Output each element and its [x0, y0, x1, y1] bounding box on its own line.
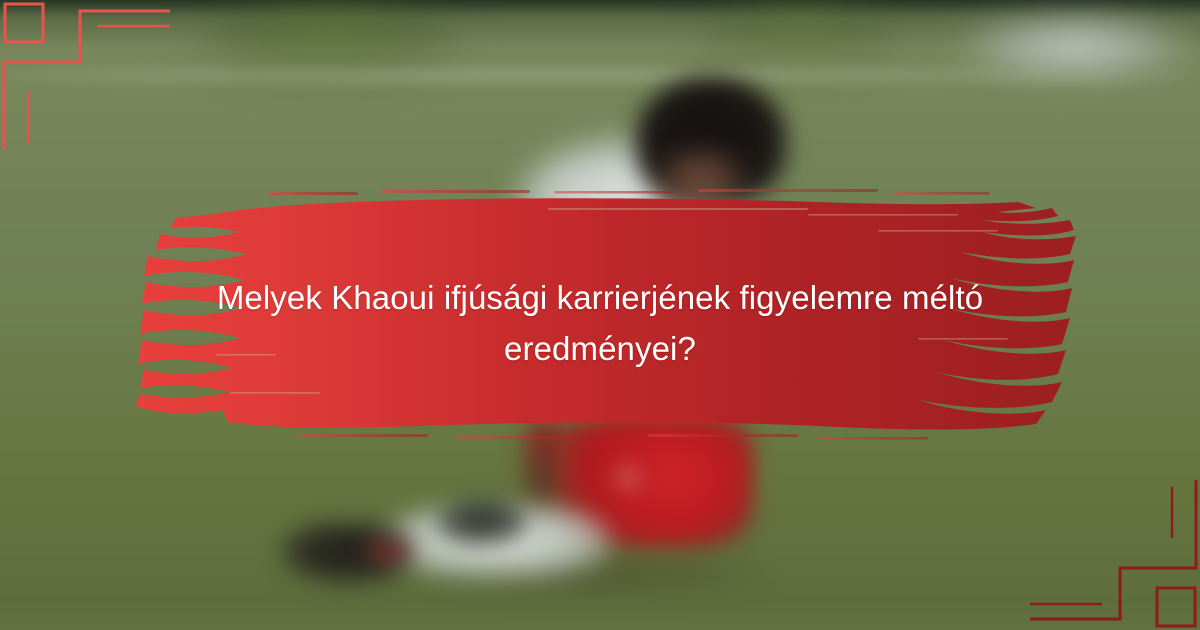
background-light-patch-right: [700, 0, 900, 58]
brush-speckle-bottom: [298, 434, 928, 440]
corner-ornament-bottom-right: [1030, 460, 1200, 630]
player-boot-right: [436, 498, 528, 546]
corner-lines-icon: [1030, 460, 1200, 630]
page-title: Melyek Khaoui ifjúsági karrierjének figy…: [160, 272, 1040, 375]
poster-canvas: Melyek Khaoui ifjúsági karrierjének figy…: [0, 0, 1200, 630]
background-field-line: [0, 72, 1200, 79]
background-light-patch-left: [200, 0, 460, 70]
corner-ornament-top-left: [0, 0, 170, 170]
brush-speckle-top: [268, 189, 990, 195]
player-boot-accent: [360, 536, 416, 566]
background-bleachers-blob: [960, 16, 1190, 78]
kit-badge: [608, 460, 648, 496]
corner-lines-icon: [0, 0, 170, 170]
